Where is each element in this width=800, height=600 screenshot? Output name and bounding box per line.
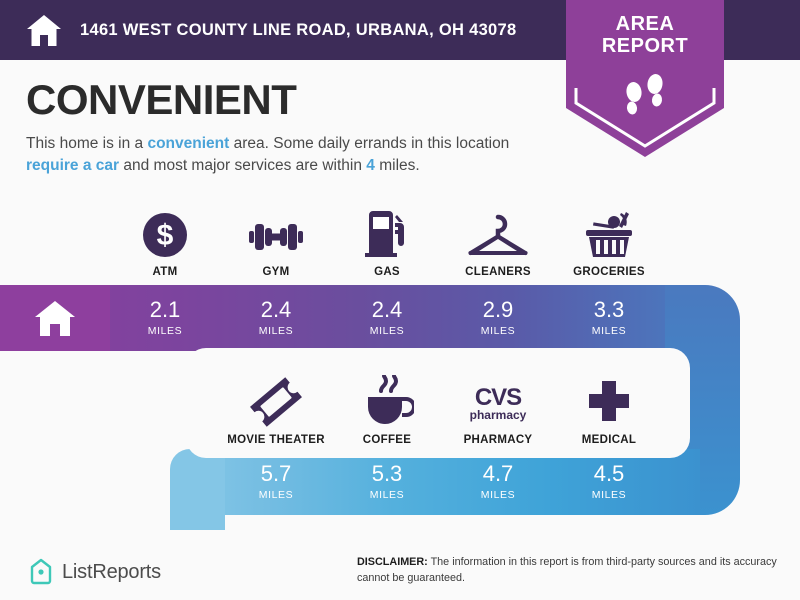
- distance-unit-pharmacy: MILES: [481, 489, 516, 501]
- distance-value-gas: 2.4: [372, 299, 403, 321]
- service-icon-medical: MEDICAL: [554, 368, 664, 446]
- hanger-icon: [467, 205, 529, 259]
- distance-cell-pharmacy: 4.7 MILES: [443, 449, 553, 515]
- distance-cell-cleaners: 2.9 MILES: [443, 285, 553, 351]
- subtitle-highlight-convenient: convenient: [147, 135, 229, 152]
- service-icon-gas: GAS: [332, 200, 442, 278]
- gas-pump-icon: [364, 205, 410, 259]
- listreports-house-icon: [28, 558, 54, 586]
- service-icon-coffee: COFFEE: [332, 368, 442, 446]
- distance-value-atm: 2.1: [150, 299, 181, 321]
- service-icon-groceries: GROCERIES: [554, 200, 664, 278]
- svg-text:$: $: [157, 219, 174, 252]
- subtitle-highlight-miles: 4: [366, 157, 375, 174]
- page-title: CONVENIENT: [26, 76, 296, 124]
- ticket-icon: [249, 373, 303, 427]
- subtitle-highlight-require-a-car: require a car: [26, 157, 119, 174]
- cvs-logo-icon: CVS pharmacy: [460, 373, 536, 427]
- distance-unit-medical: MILES: [592, 489, 627, 501]
- home-icon: [26, 13, 62, 47]
- listreports-logo: ListReports: [28, 558, 161, 586]
- distance-cell-groceries: 3.3 MILES: [554, 285, 664, 351]
- distance-cell-medical: 4.5 MILES: [554, 449, 664, 515]
- subtitle-part-4: miles.: [375, 157, 420, 174]
- service-label-movie-theater: MOVIE THEATER: [227, 434, 325, 446]
- subtitle-part-2: area. Some daily errands in this locatio…: [229, 135, 509, 152]
- distance-cell-atm: 2.1 MILES: [110, 285, 220, 351]
- home-origin-cell: [0, 285, 110, 351]
- page-subtitle: This home is in a convenient area. Some …: [26, 133, 556, 178]
- service-icon-pharmacy: CVS pharmacy PHARMACY: [443, 368, 553, 446]
- medical-cross-icon: [585, 373, 633, 427]
- basket-icon: [580, 205, 638, 259]
- listreports-logo-text: ListReports: [62, 561, 161, 584]
- service-icon-gym: GYM: [221, 200, 331, 278]
- svg-text:CVS: CVS: [475, 384, 522, 411]
- distance-value-groceries: 3.3: [594, 299, 625, 321]
- distance-value-movie-theater: 5.7: [261, 463, 292, 485]
- service-icon-atm: $ ATM: [110, 200, 220, 278]
- dumbbell-icon: [247, 205, 305, 259]
- distance-value-pharmacy: 4.7: [483, 463, 514, 485]
- distance-value-gym: 2.4: [261, 299, 292, 321]
- disclaimer: DISCLAIMER: The information in this repo…: [357, 555, 777, 586]
- distance-cell-movie-theater: 5.7 MILES: [221, 449, 331, 515]
- dollar-circle-icon: $: [141, 205, 189, 259]
- distance-unit-cleaners: MILES: [481, 325, 516, 337]
- distance-cell-gas: 2.4 MILES: [332, 285, 442, 351]
- svg-text:pharmacy: pharmacy: [470, 408, 527, 422]
- service-icon-cleaners: CLEANERS: [443, 200, 553, 278]
- service-label-coffee: COFFEE: [363, 434, 411, 446]
- distance-value-cleaners: 2.9: [483, 299, 514, 321]
- disclaimer-label: DISCLAIMER:: [357, 556, 428, 568]
- distance-unit-groceries: MILES: [592, 325, 627, 337]
- distance-unit-gas: MILES: [370, 325, 405, 337]
- distance-cell-coffee: 5.3 MILES: [332, 449, 442, 515]
- distance-value-coffee: 5.3: [372, 463, 403, 485]
- service-label-medical: MEDICAL: [582, 434, 637, 446]
- distance-unit-movie-theater: MILES: [259, 489, 294, 501]
- distance-unit-atm: MILES: [148, 325, 183, 337]
- coffee-cup-icon: [360, 373, 414, 427]
- service-label-pharmacy: PHARMACY: [464, 434, 533, 446]
- subtitle-part-1: This home is in a: [26, 135, 147, 152]
- distance-unit-gym: MILES: [259, 325, 294, 337]
- distance-value-medical: 4.5: [594, 463, 625, 485]
- area-report-badge: AREA REPORT: [566, 0, 724, 158]
- subtitle-part-3: and most major services are within: [119, 157, 366, 174]
- distance-unit-coffee: MILES: [370, 489, 405, 501]
- home-icon: [33, 298, 77, 338]
- service-icon-movie-theater: MOVIE THEATER: [221, 368, 331, 446]
- header-address: 1461 WEST COUNTY LINE ROAD, URBANA, OH 4…: [80, 21, 517, 40]
- distance-cell-gym: 2.4 MILES: [221, 285, 331, 351]
